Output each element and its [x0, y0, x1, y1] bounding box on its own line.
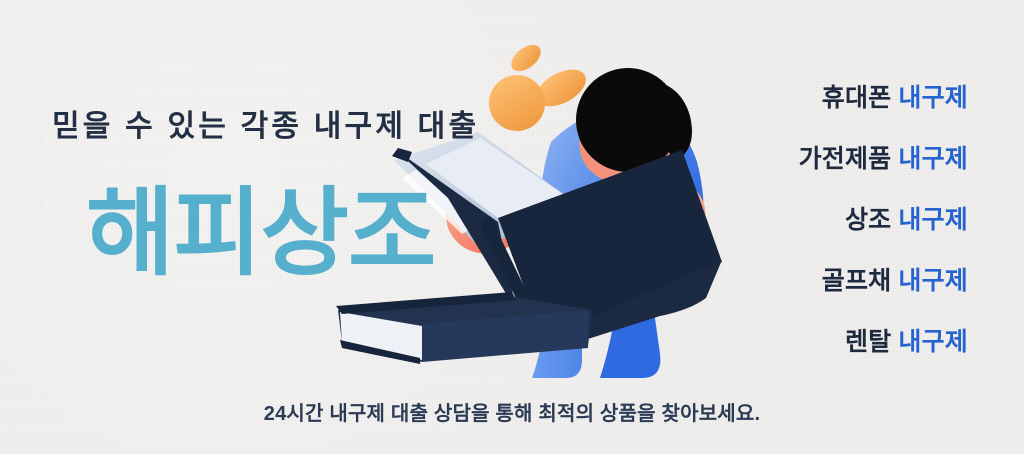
brand-name: 해피상조 [86, 186, 435, 282]
service-keyword: 내구제 [898, 84, 968, 112]
service-list: 휴대폰내구제 가전제품내구제 상조내구제 골프채내구제 렌탈내구제 [648, 86, 968, 355]
promo-banner: 믿을 수 있는 각종 내구제 대출 해피상조 휴대폰내구제 가전제품내구제 상조… [0, 0, 1024, 454]
service-item-golf-club[interactable]: 골프채내구제 [648, 269, 968, 294]
service-item-funeral-service[interactable]: 상조내구제 [648, 208, 968, 233]
service-prefix: 골프채 [822, 267, 892, 295]
service-prefix: 상조 [845, 206, 891, 234]
service-item-home-appliance[interactable]: 가전제품내구제 [648, 147, 968, 172]
service-item-mobile-phone[interactable]: 휴대폰내구제 [648, 86, 968, 111]
service-keyword: 내구제 [898, 328, 968, 356]
service-item-rental[interactable]: 렌탈내구제 [648, 330, 968, 355]
service-keyword: 내구제 [898, 267, 968, 295]
service-keyword: 내구제 [898, 206, 968, 234]
footer-caption: 24시간 내구제 대출 상담을 통해 최적의 상품을 찾아보세요. [0, 404, 1024, 424]
service-prefix: 렌탈 [845, 328, 891, 356]
service-prefix: 휴대폰 [822, 84, 892, 112]
page-title: 믿을 수 있는 각종 내구제 대출 [52, 112, 479, 142]
service-keyword: 내구제 [898, 145, 968, 173]
service-prefix: 가전제품 [799, 145, 892, 173]
